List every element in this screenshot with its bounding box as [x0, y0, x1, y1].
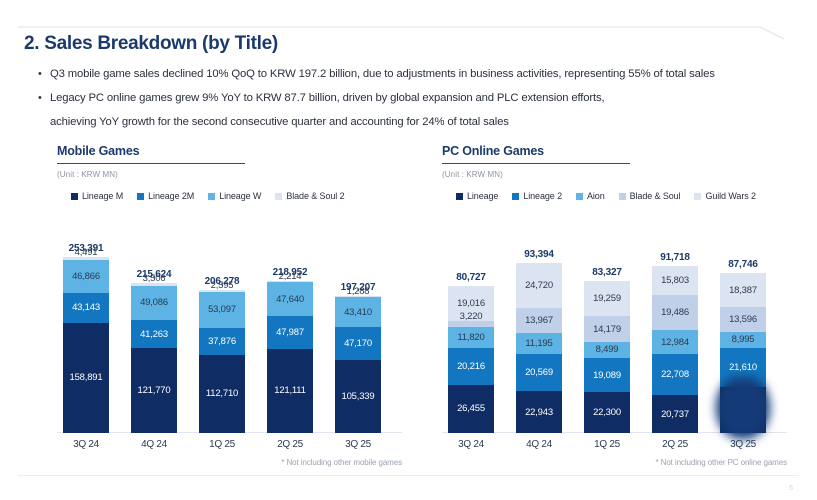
panel-unit-mobile: (Unit : KRW MN) [57, 170, 402, 179]
bar-segment[interactable]: 37,876 [199, 328, 245, 354]
legend-swatch-icon [619, 193, 626, 200]
legend-item-lineage-w[interactable]: Lineage W [208, 191, 261, 201]
bar-total-label: 80,727 [456, 272, 485, 283]
bar-segment-label: 158,891 [70, 372, 103, 383]
bar-stack: 24,72013,96711,19520,56922,943 [516, 263, 562, 433]
slide: 2. Sales Breakdown (by Title) • Q3 mobil… [0, 0, 817, 500]
bar-segment[interactable]: 8,499 [584, 342, 630, 357]
bar-group[interactable]: 253,3914,49146,86643,143158,8913Q 24 [63, 257, 109, 433]
bar-stack: 19,0163,22011,82020,21626,455 [448, 286, 494, 433]
bar-segment-label: 20,737 [661, 409, 689, 420]
legend-item-lineage[interactable]: Lineage [456, 191, 498, 201]
bar-group[interactable]: 218,9522,21447,64047,987121,1112Q 25 [267, 281, 313, 433]
legend-label: Lineage 2 [523, 191, 562, 201]
bar-segment[interactable]: 22,943 [516, 391, 562, 433]
bar-segment-label: 12,984 [661, 337, 689, 348]
bar-segment[interactable]: 20,216 [448, 348, 494, 385]
bar-segment-label: 11,820 [457, 332, 484, 343]
bar-segment[interactable]: 105,339 [335, 360, 381, 433]
bar-group[interactable]: 80,72719,0163,22011,82020,21626,4553Q 24 [448, 286, 494, 433]
bar-segment-label: 19,259 [593, 293, 621, 304]
bar-segment-label: 20,569 [525, 367, 553, 378]
bar-segment-label: 41,263 [140, 329, 168, 340]
bar-segment[interactable]: 43,143 [63, 293, 109, 323]
bar-group[interactable]: 83,32719,25914,1798,49919,08922,3001Q 25 [584, 281, 630, 433]
legend-item-aion[interactable]: Aion [576, 191, 605, 201]
legend-item-guild-wars-2[interactable]: Guild Wars 2 [694, 191, 755, 201]
bar-segment-label: 18,387 [729, 285, 757, 296]
chart-pc-online-games: * Not including other PC online games 80… [442, 215, 787, 451]
bar-segment-label: 1,288 [347, 286, 370, 297]
bar-segment-label: 4,491 [75, 247, 98, 258]
bar-segment-label: 22,943 [525, 407, 553, 418]
bar-total-label: 83,327 [592, 267, 621, 278]
bar-segment[interactable]: 22,300 [584, 392, 630, 433]
bar-segment-label: 19,016 [457, 298, 485, 309]
bar-segment-label: 121,111 [274, 385, 306, 396]
bar-group[interactable]: 93,39424,72013,96711,19520,56922,9434Q 2… [516, 263, 562, 433]
bullet-marker: • [38, 90, 50, 106]
bar-segment-label: 11,195 [525, 338, 552, 349]
bar-segment-label: 2,595 [211, 280, 234, 291]
bar-segment[interactable]: 11,195 [516, 333, 562, 353]
chart-mobile-games: * Not including other mobile games 253,3… [57, 215, 402, 451]
legend-item-blade-soul-2[interactable]: Blade & Soul 2 [275, 191, 344, 201]
bar-segment-label: 47,170 [344, 338, 372, 349]
x-axis-label: 2Q 25 [662, 439, 688, 450]
page-title: 2. Sales Breakdown (by Title) [24, 33, 278, 55]
legend-label: Lineage M [82, 191, 123, 201]
bar-segment[interactable]: 46,866 [63, 260, 109, 293]
bar-segment-label: 19,486 [661, 307, 689, 318]
bar-segment[interactable]: 26,455 [448, 385, 494, 433]
bar-stack: 4,49146,86643,143158,891 [63, 257, 109, 433]
footer-rule [18, 475, 799, 476]
bar-segment-label: 19,089 [593, 370, 621, 381]
bar-segment[interactable]: 41,263 [131, 320, 177, 349]
bar-segment-label: 112,710 [206, 388, 238, 399]
x-axis-label: 3Q 24 [73, 439, 99, 450]
bar-group[interactable]: 197,2071,28843,41047,170105,3393Q 25 [335, 296, 381, 433]
panel-pc-online-games: PC Online Games (Unit : KRW MN) LineageL… [442, 144, 787, 474]
panel-underline-pc [442, 163, 630, 164]
footnote-mobile: * Not including other mobile games [281, 458, 402, 467]
legend-label: Blade & Soul [630, 191, 681, 201]
legend-pc: LineageLineage 2AionBlade & SoulGuild Wa… [442, 191, 787, 201]
bar-segment[interactable]: 8,995 [720, 332, 766, 348]
bar-segment[interactable]: 20,569 [516, 354, 562, 391]
bar-segment[interactable]: 43,410 [335, 297, 381, 327]
panel-mobile-games: Mobile Games (Unit : KRW MN) Lineage MLi… [57, 144, 402, 474]
legend-label: Blade & Soul 2 [286, 191, 344, 201]
bar-segment[interactable]: 47,987 [267, 316, 313, 349]
bar-segment-label: 3,506 [143, 273, 166, 284]
bar-segment[interactable]: 49,086 [131, 286, 177, 320]
bar-segment-label: 49,086 [140, 297, 168, 308]
panel-underline-mobile [57, 163, 245, 164]
legend-item-lineage-m[interactable]: Lineage M [71, 191, 123, 201]
x-axis-label: 2Q 25 [277, 439, 303, 450]
bar-stack: 2,21447,64047,987121,111 [267, 281, 313, 433]
bar-segment[interactable]: 24,720 [516, 263, 562, 308]
x-axis-label: 3Q 25 [730, 439, 756, 450]
bar-stack: 15,80319,48612,98422,70820,737 [652, 266, 698, 433]
bar-segment-label: 15,803 [661, 275, 689, 286]
footnote-pc: * Not including other PC online games [656, 458, 788, 467]
bar-group[interactable]: 91,71815,80319,48612,98422,70820,7372Q 2… [652, 266, 698, 433]
bar-segment[interactable]: 121,111 [267, 349, 313, 433]
bar-segment-label: 53,097 [208, 304, 236, 315]
bullet-item-2: • Legacy PC online games grew 9% YoY to … [38, 90, 798, 106]
bar-segment[interactable]: 112,710 [199, 355, 245, 433]
bar-segment[interactable]: 14,179 [584, 316, 630, 342]
bar-segment-label: 22,708 [661, 369, 689, 380]
x-axis-label: 4Q 24 [141, 439, 167, 450]
bar-total-label: 91,718 [660, 252, 689, 263]
bar-segment[interactable]: 19,089 [584, 358, 630, 393]
x-axis-label: 4Q 24 [526, 439, 552, 450]
bullet-list: • Q3 mobile game sales declined 10% QoQ … [38, 66, 798, 130]
legend-item-lineage-2[interactable]: Lineage 2 [512, 191, 562, 201]
panel-title-pc: PC Online Games [442, 144, 787, 163]
legend-label: Guild Wars 2 [705, 191, 755, 201]
legend-label: Lineage 2M [148, 191, 194, 201]
x-axis-label: 1Q 25 [594, 439, 620, 450]
legend-swatch-icon [694, 193, 701, 200]
legend-swatch-icon [275, 193, 282, 200]
bar-segment-label: 121,770 [138, 385, 171, 396]
bar-segment-label: 43,143 [72, 302, 100, 313]
bullet-text-2-continuation: achieving YoY growth for the second cons… [50, 114, 798, 130]
bar-segment-label: 47,987 [276, 327, 304, 338]
bar-segment[interactable]: 53,097 [199, 292, 245, 329]
bar-segment-label: 2,214 [279, 271, 302, 282]
bar-segment-label: 37,876 [208, 336, 236, 347]
bullet-marker: • [38, 66, 50, 82]
bar-segment-label: 46,866 [72, 271, 100, 282]
bullet-text-1: Q3 mobile game sales declined 10% QoQ to… [50, 66, 715, 82]
bullet-item-1: • Q3 mobile game sales declined 10% QoQ … [38, 66, 798, 82]
bar-segment-label: 13,596 [729, 314, 757, 325]
legend-label: Aion [587, 191, 605, 201]
bar-segment-label: 26,455 [457, 403, 485, 414]
bar-segment-label: 20,216 [457, 361, 485, 372]
obscured-segment-artifact [716, 377, 770, 439]
bar-segment-label: 47,640 [276, 294, 304, 305]
legend-swatch-icon [137, 193, 144, 200]
bar-segment[interactable]: 11,820 [448, 327, 494, 349]
panel-title-mobile: Mobile Games [57, 144, 402, 163]
bar-segment[interactable]: 121,770 [131, 348, 177, 433]
bullet-text-2: Legacy PC online games grew 9% YoY to KR… [50, 90, 605, 106]
bar-segment[interactable]: 13,596 [720, 307, 766, 332]
legend-swatch-icon [456, 193, 463, 200]
legend-label: Lineage [467, 191, 498, 201]
bar-segment-label: 13,967 [525, 315, 553, 326]
bar-segment-label: 105,339 [342, 391, 375, 402]
legend-swatch-icon [512, 193, 519, 200]
bar-segment-label: 43,410 [344, 307, 372, 318]
legend-swatch-icon [208, 193, 215, 200]
bar-segment-label: 22,300 [593, 407, 621, 418]
bar-segment[interactable]: 15,803 [652, 266, 698, 295]
bar-total-label: 87,746 [728, 259, 757, 270]
bar-group[interactable]: 215,6243,50649,08641,263121,7704Q 24 [131, 283, 177, 433]
bar-segment[interactable]: 19,259 [584, 281, 630, 316]
panel-unit-pc: (Unit : KRW MN) [442, 170, 787, 179]
page-number: 6 [789, 485, 793, 492]
legend-item-blade-soul[interactable]: Blade & Soul [619, 191, 681, 201]
bar-segment[interactable]: 22,708 [652, 354, 698, 395]
legend-label: Lineage W [219, 191, 261, 201]
bar-stack: 2,59553,09737,876112,710 [199, 290, 245, 433]
bar-segment[interactable]: 13,967 [516, 308, 562, 333]
bar-stack: 3,50649,08641,263121,770 [131, 283, 177, 433]
bar-segment-label: 8,499 [596, 344, 619, 355]
x-axis-label: 1Q 25 [209, 439, 235, 450]
x-axis-label: 3Q 24 [458, 439, 484, 450]
legend-swatch-icon [71, 193, 78, 200]
bar-stack: 19,25914,1798,49919,08922,300 [584, 281, 630, 433]
bar-stack: 1,28843,41047,170105,339 [335, 296, 381, 433]
bar-segment-label: 14,179 [593, 324, 621, 335]
legend-item-lineage-2m[interactable]: Lineage 2M [137, 191, 194, 201]
bar-segment-label: 24,720 [525, 280, 553, 291]
bar-group[interactable]: 206,2782,59553,09737,876112,7101Q 25 [199, 290, 245, 433]
bar-segment[interactable]: 158,891 [63, 323, 109, 433]
bar-group[interactable]: 87,74618,38713,5968,99521,6103Q 25 [720, 273, 766, 433]
legend-mobile: Lineage MLineage 2MLineage WBlade & Soul… [57, 191, 402, 201]
bar-segment[interactable]: 47,170 [335, 327, 381, 360]
legend-swatch-icon [576, 193, 583, 200]
bar-segment[interactable]: 20,737 [652, 395, 698, 433]
x-axis-label: 3Q 25 [345, 439, 371, 450]
bar-segment-label: 8,995 [732, 334, 755, 345]
bar-total-label: 93,394 [524, 249, 553, 260]
bar-segment[interactable]: 47,640 [267, 282, 313, 315]
bar-segment-label: 3,220 [460, 311, 483, 322]
bar-segment[interactable]: 19,486 [652, 295, 698, 330]
bar-segment[interactable]: 18,387 [720, 273, 766, 306]
bar-segment-label: 21,610 [729, 362, 757, 373]
bar-segment[interactable]: 12,984 [652, 330, 698, 354]
